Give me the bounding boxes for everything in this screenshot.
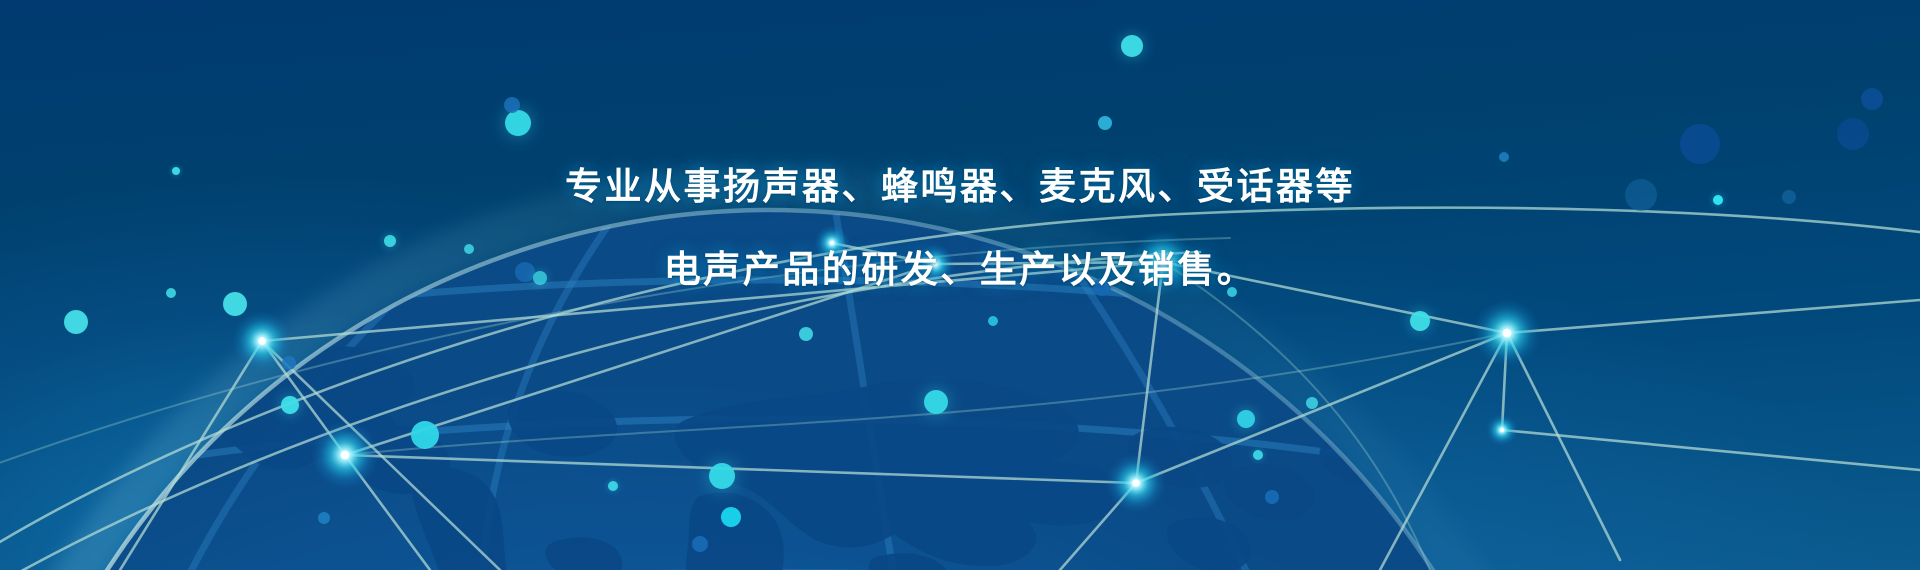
decorative-dot	[1237, 410, 1255, 428]
decorative-dot	[504, 97, 520, 113]
decorative-dots	[0, 0, 1920, 570]
decorative-dot	[318, 512, 330, 524]
decorative-dot	[1625, 179, 1657, 211]
decorative-dot	[166, 288, 176, 298]
decorative-dot	[1098, 116, 1112, 130]
decorative-dot	[988, 316, 998, 326]
decorative-dot	[1499, 152, 1509, 162]
decorative-dot	[1093, 278, 1111, 296]
decorative-dot	[692, 536, 708, 552]
decorative-dot	[411, 421, 439, 449]
decorative-dot	[1861, 88, 1883, 110]
decorative-dot	[384, 235, 396, 247]
decorative-dot	[1121, 35, 1143, 57]
decorative-dot	[282, 356, 296, 370]
decorative-dot	[281, 396, 299, 414]
decorative-dot	[1306, 397, 1318, 409]
hero-banner: 专业从事扬声器、蜂鸣器、麦克风、受话器等 电声产品的研发、生产以及销售。	[0, 0, 1920, 570]
decorative-dot	[1253, 450, 1263, 460]
decorative-dot	[709, 463, 735, 489]
decorative-dot	[1680, 124, 1720, 164]
decorative-dot	[64, 310, 88, 334]
decorative-dot	[1782, 190, 1796, 204]
decorative-dot	[515, 262, 535, 282]
decorative-dot	[464, 244, 474, 254]
decorative-dot	[172, 167, 180, 175]
decorative-dot	[608, 481, 618, 491]
decorative-dot	[1713, 195, 1723, 205]
decorative-dot	[1227, 287, 1237, 297]
decorative-dot	[1265, 490, 1279, 504]
decorative-dot	[505, 110, 531, 136]
decorative-dot	[223, 292, 247, 316]
decorative-dot	[721, 507, 741, 527]
decorative-dot	[799, 327, 813, 341]
decorative-dot	[1410, 311, 1430, 331]
decorative-dot	[1837, 118, 1869, 150]
decorative-dot	[924, 390, 948, 414]
decorative-dot	[533, 271, 547, 285]
